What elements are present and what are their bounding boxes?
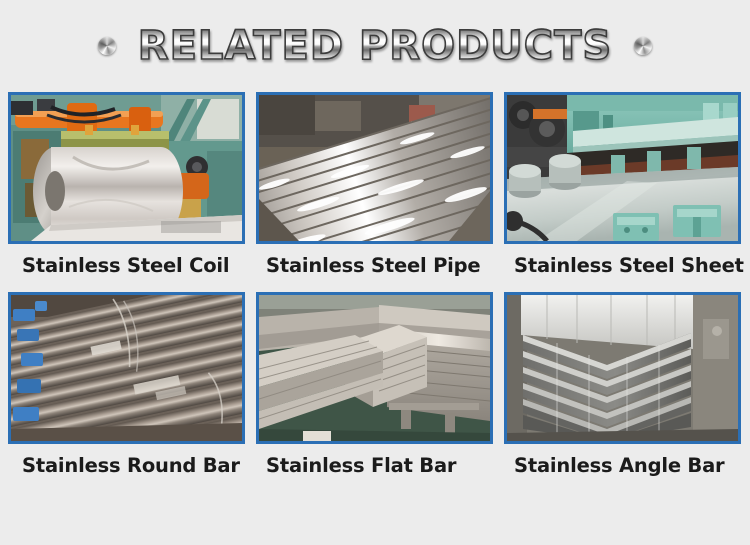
stainless-steel-pipe-photo[interactable] [256,92,493,244]
product-label: Stainless Flat Bar [256,444,493,476]
stainless-steel-coil-photo[interactable] [8,92,245,244]
product-card-stainless-steel-sheet[interactable]: Stainless Steel Sheet [504,92,741,276]
stainless-angle-bar-photo[interactable] [504,292,741,444]
product-label: Stainless Steel Sheet [504,244,741,276]
page-title: RELATED PRODUCTS [138,26,612,66]
product-label: Stainless Round Bar [8,444,245,476]
stainless-round-bar-photo[interactable] [8,292,245,444]
product-label: Stainless Steel Pipe [256,244,493,276]
stainless-flat-bar-photo[interactable] [256,292,493,444]
section-header: RELATED PRODUCTS [0,0,750,92]
stainless-steel-sheet-photo[interactable] [504,92,741,244]
product-card-stainless-steel-pipe[interactable]: Stainless Steel Pipe [256,92,493,276]
metallic-disc-icon-right [634,37,652,55]
product-grid: Stainless Steel Coil [0,92,750,477]
product-card-stainless-round-bar[interactable]: Stainless Round Bar [8,292,245,476]
product-card-stainless-flat-bar[interactable]: Stainless Flat Bar [256,292,493,476]
product-card-stainless-steel-coil[interactable]: Stainless Steel Coil [8,92,245,276]
product-card-stainless-angle-bar[interactable]: Stainless Angle Bar [504,292,741,476]
product-label: Stainless Steel Coil [8,244,245,276]
metallic-disc-icon-left [98,37,116,55]
product-label: Stainless Angle Bar [504,444,741,476]
